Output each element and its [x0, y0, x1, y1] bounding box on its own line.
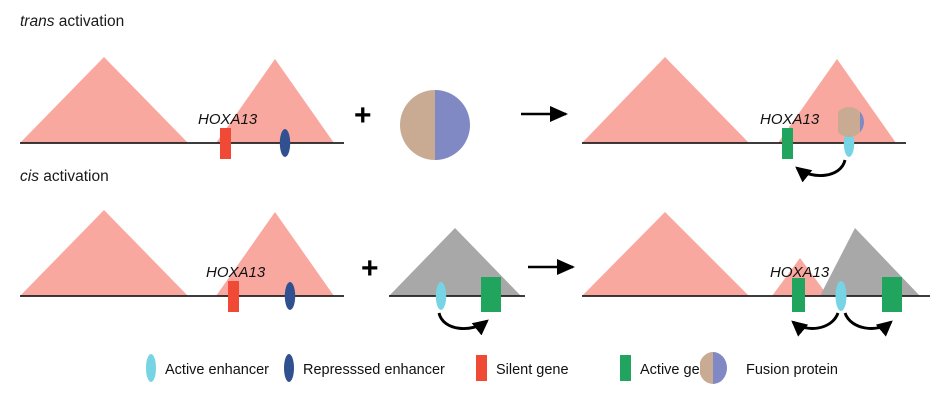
legend: Active enhancer Represssed enhancer Sile… [146, 352, 838, 384]
row-title-trans: trans activation [20, 13, 124, 30]
active-gene-icon [620, 355, 631, 381]
legend-label-active-enhancer: Active enhancer [165, 362, 269, 378]
silent-gene-icon [476, 355, 487, 381]
legend-item-repressed-enhancer: Represssed enhancer [284, 354, 445, 382]
figure-root: trans activation HOXA13 + [0, 0, 949, 400]
legend-item-silent-gene: Silent gene [476, 355, 569, 381]
diagram-canvas: trans activation HOXA13 + [0, 0, 949, 400]
row-title-cis-rest: activation [39, 168, 109, 185]
active-gene-marker [782, 128, 793, 159]
silent-gene-marker [228, 281, 239, 312]
fusion-protein-left-half [834, 107, 864, 137]
fusion-protein-right-half [435, 90, 470, 160]
tad-domain-large [20, 57, 188, 143]
repressed-enhancer-icon [284, 354, 294, 382]
active-gene-marker [792, 278, 805, 312]
legend-item-active-enhancer: Active enhancer [146, 354, 269, 382]
fusion-protein-left-half [400, 90, 435, 160]
activation-loop-arrow-left [793, 313, 838, 328]
activation-loop-arrow-right [845, 313, 891, 328]
row-title-cis: cis activation [20, 168, 109, 185]
tad-domain-large [20, 210, 188, 296]
row-title-cis-keyword: cis [20, 168, 39, 185]
tad-domain-large [582, 57, 749, 143]
legend-label-repressed-enhancer: Represssed enhancer [303, 362, 445, 378]
operator-plus-trans: + [354, 99, 372, 132]
activation-loop-arrow [797, 160, 845, 176]
trans-left-panel: HOXA13 [20, 57, 344, 159]
trans-right-panel: HOXA13 [582, 57, 906, 176]
silent-gene-marker [220, 128, 231, 159]
cis-left-panel: HOXA13 [20, 210, 344, 312]
legend-label-silent-gene: Silent gene [496, 362, 569, 378]
active-gene-marker [481, 277, 501, 312]
active-enhancer-marker [436, 282, 446, 310]
active-gene-marker-second [882, 277, 902, 312]
gene-label-hoxa13: HOXA13 [198, 111, 258, 128]
tad-domain-small [216, 59, 334, 143]
operator-plus-cis: + [361, 252, 379, 285]
row-title-trans-keyword: trans [20, 13, 55, 30]
repressed-enhancer-marker [280, 129, 290, 157]
fusion-protein-bound [834, 107, 864, 137]
tad-domain-gray [389, 228, 521, 296]
activation-loop-arrow [439, 313, 487, 329]
repressed-enhancer-marker [285, 282, 295, 310]
legend-label-fusion-protein: Fusion protein [746, 362, 838, 378]
tad-domain-small [778, 59, 896, 143]
legend-item-fusion-protein: Fusion protein [699, 352, 838, 384]
row-title-trans-rest: activation [54, 13, 124, 30]
tad-domain-large [582, 212, 749, 296]
tad-domain-gray [820, 228, 920, 296]
active-enhancer-marker [836, 281, 847, 311]
gene-label-hoxa13: HOXA13 [760, 111, 820, 128]
cis-middle-panel [389, 228, 525, 329]
gene-label-hoxa13: HOXA13 [206, 264, 266, 281]
gene-label-hoxa13: HOXA13 [770, 264, 830, 281]
cis-right-panel: HOXA13 [582, 212, 930, 328]
active-enhancer-icon [146, 354, 156, 382]
trans-middle-panel [400, 90, 470, 160]
